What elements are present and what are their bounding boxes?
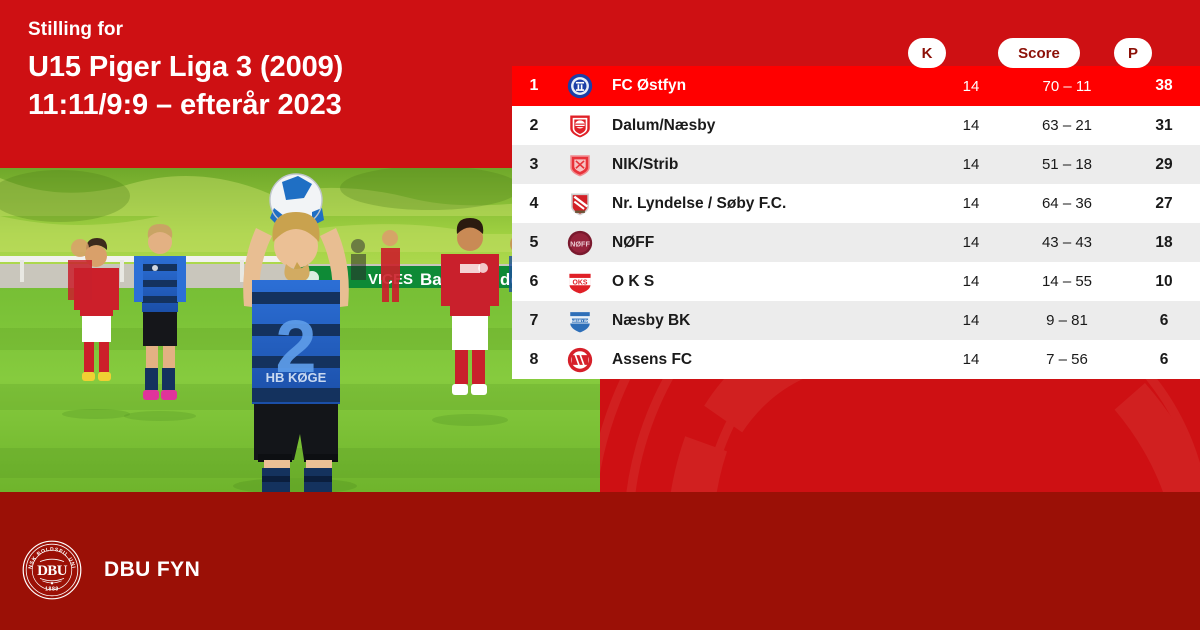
row-points: 6 [1128, 312, 1200, 330]
row-points: 31 [1128, 117, 1200, 135]
row-matches: 14 [936, 273, 1006, 290]
row-score: 64 – 36 [1006, 195, 1128, 212]
row-matches: 14 [936, 117, 1006, 134]
row-score: 43 – 43 [1006, 234, 1128, 251]
row-team-name: Assens FC [604, 351, 936, 369]
row-team-name: Dalum/Næsby [604, 117, 936, 135]
row-score: 7 – 56 [1006, 351, 1128, 368]
table-row[interactable]: 5 NØFF NØFF 14 43 – 43 18 [512, 223, 1200, 262]
row-matches: 14 [936, 156, 1006, 173]
svg-text:NÆSBY BK: NÆSBY BK [571, 318, 589, 322]
row-score: 70 – 11 [1006, 78, 1128, 95]
column-header-matches: K [908, 38, 946, 68]
row-team-name: Nr. Lyndelse / Søby F.C. [604, 195, 936, 213]
row-score: 51 – 18 [1006, 156, 1128, 173]
row-score: 9 – 81 [1006, 312, 1128, 329]
page-title-line-2: 11:11/9:9 – efterår 2023 [28, 86, 498, 124]
dalum-naesby-crest [556, 113, 604, 139]
svg-text:1889: 1889 [45, 586, 59, 592]
row-matches: 14 [936, 351, 1006, 368]
row-points: 6 [1128, 351, 1200, 369]
page-title-line-1: U15 Piger Liga 3 (2009) [28, 48, 498, 86]
table-row[interactable]: 6 OKS O K S 14 14 – 55 10 [512, 262, 1200, 301]
row-team-name: O K S [604, 273, 936, 291]
nr-lyndelse-soeby-crest [556, 191, 604, 217]
table-row[interactable]: 1 FC Østfyn 14 70 – 11 38 [512, 66, 1200, 106]
table-row[interactable]: 8 Assens FC 14 7 – 56 6 [512, 340, 1200, 379]
row-matches: 14 [936, 234, 1006, 251]
naesby-bk-crest: NÆSBY BK [556, 308, 604, 334]
assens-fc-crest [556, 347, 604, 373]
table-header-pills: K Score P [512, 38, 1200, 68]
row-matches: 14 [936, 195, 1006, 212]
fc-oestfyn-crest [556, 73, 604, 99]
row-position: 6 [512, 273, 556, 291]
row-position: 2 [512, 117, 556, 135]
row-points: 29 [1128, 156, 1200, 174]
nik-strib-crest [556, 152, 604, 178]
table-row[interactable]: 7 NÆSBY BK Næsby BK 14 9 – 81 6 [512, 301, 1200, 340]
row-position: 4 [512, 195, 556, 213]
row-position: 3 [512, 156, 556, 174]
match-photo: VICES Ballerup de [0, 168, 600, 492]
footer-label: DBU FYN [104, 558, 200, 582]
table-row[interactable]: 4 Nr. Lyndelse / Søby F.C. 14 64 – 36 27 [512, 184, 1200, 223]
row-score: 14 – 55 [1006, 273, 1128, 290]
table-row[interactable]: 3 NIK/Strib 14 51 – 18 29 [512, 145, 1200, 184]
standings-graphic: DBU Stilling for U15 Piger Liga 3 (2009)… [0, 0, 1200, 630]
row-team-name: NØFF [604, 234, 936, 252]
row-score: 63 – 21 [1006, 117, 1128, 134]
row-points: 27 [1128, 195, 1200, 213]
noeff-crest: NØFF [556, 230, 604, 256]
row-points: 10 [1128, 273, 1200, 291]
dbu-logo-icon: DANSK BOLDSPIL UNION DBU 1889 [22, 540, 82, 600]
oks-crest: OKS [556, 269, 604, 295]
row-points: 18 [1128, 234, 1200, 252]
svg-text:DBU: DBU [37, 563, 68, 579]
row-position: 8 [512, 351, 556, 369]
column-header-points: P [1114, 38, 1152, 68]
row-matches: 14 [936, 78, 1006, 95]
row-position: 5 [512, 234, 556, 252]
standings-table: 1 FC Østfyn 14 70 – 11 38 2 Dalum/Næsby … [512, 66, 1200, 379]
svg-text:HB KØGE: HB KØGE [266, 370, 327, 385]
table-row[interactable]: 2 Dalum/Næsby 14 63 – 21 31 [512, 106, 1200, 145]
column-header-score: Score [998, 38, 1080, 68]
row-team-name: Næsby BK [604, 312, 936, 330]
row-points: 38 [1128, 77, 1200, 95]
svg-text:NØFF: NØFF [570, 239, 590, 248]
row-matches: 14 [936, 312, 1006, 329]
header-kicker: Stilling for [28, 18, 498, 43]
header: Stilling for U15 Piger Liga 3 (2009) 11:… [28, 18, 498, 124]
match-photo-illustration: VICES Ballerup de [0, 168, 600, 492]
row-position: 1 [512, 77, 556, 95]
footer: DANSK BOLDSPIL UNION DBU 1889 DBU FYN [22, 540, 200, 600]
svg-text:OKS: OKS [573, 279, 588, 286]
row-team-name: FC Østfyn [604, 77, 936, 95]
row-team-name: NIK/Strib [604, 156, 936, 174]
row-position: 7 [512, 312, 556, 330]
